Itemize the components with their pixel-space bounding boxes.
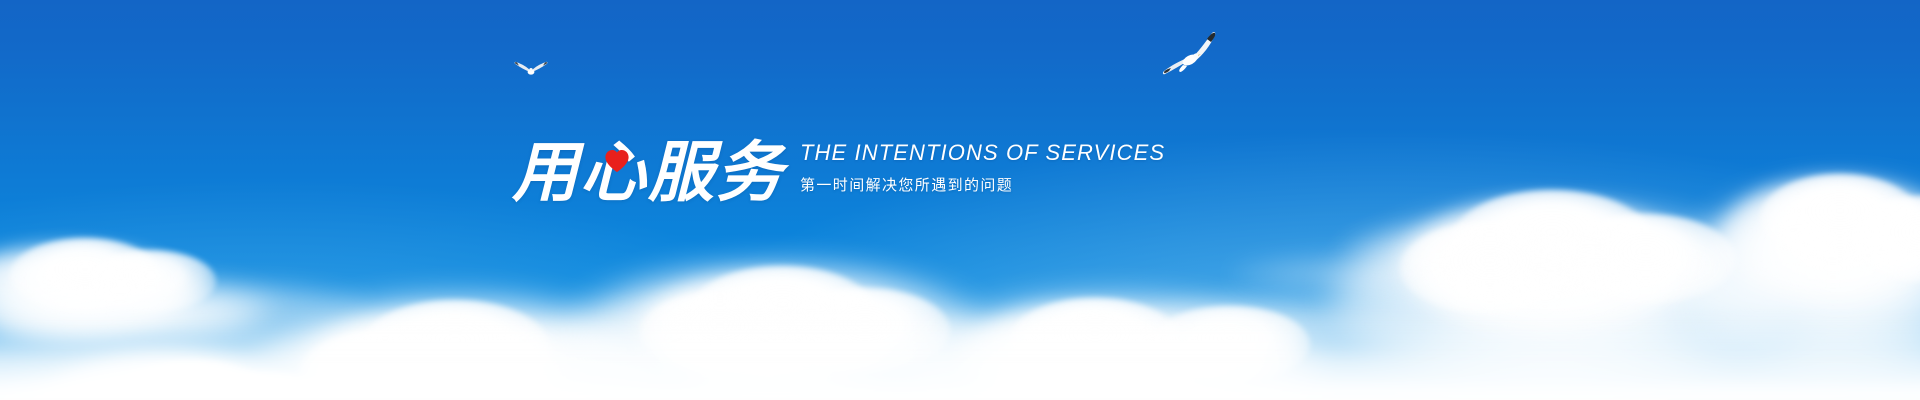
cloud-puff [636, 276, 886, 388]
cloud-base [0, 310, 1920, 400]
cloud-puff [1452, 190, 1652, 290]
headline-block: 用心服务 THE INTENTIONS OF SERVICES 第一时间解决您所… [512, 140, 1165, 207]
cloud-puff [40, 352, 300, 400]
cloud-puff [1556, 214, 1736, 304]
page-title: 用心服务 [512, 141, 784, 207]
seagull-icon [1160, 28, 1220, 78]
cloud-wisp [430, 330, 650, 368]
cloud-puff [690, 266, 875, 358]
cloud-puff [1400, 222, 1580, 314]
cloud-puff [0, 370, 280, 400]
cloud-puff [360, 300, 550, 396]
cloud-wisp [0, 286, 270, 346]
cloud-bank [1330, 212, 1790, 392]
service-banner: 用心服务 THE INTENTIONS OF SERVICES 第一时间解决您所… [0, 0, 1920, 400]
title-wrap: 用心服务 [512, 141, 784, 207]
cloud-wisp [1230, 254, 1460, 294]
cloud-puff [960, 306, 1200, 400]
cloud-puff [640, 292, 800, 372]
cloud-puff [1846, 196, 1920, 282]
cloud-puff [1010, 298, 1180, 382]
heart-icon [604, 149, 630, 173]
cloud-puff [86, 250, 216, 312]
seagull-icon [514, 60, 548, 80]
seagull-small-left [514, 60, 548, 80]
cloud-wisp [1130, 296, 1420, 346]
english-subtitle: THE INTENTIONS OF SERVICES [800, 140, 1165, 166]
cloud-puff [10, 238, 160, 312]
subtitle-column: THE INTENTIONS OF SERVICES 第一时间解决您所遇到的问题 [800, 140, 1165, 207]
cloud-puff [780, 288, 950, 372]
cloud-wisp [1340, 222, 1640, 276]
cloud-bank [900, 300, 1320, 400]
cloud-wisp [600, 296, 840, 342]
cloud-wisp [110, 282, 370, 334]
cloud-puff [300, 330, 470, 400]
cloud-puff [108, 360, 278, 400]
cloud-bank [1680, 188, 1920, 378]
cloud-puff [300, 312, 560, 400]
cloud-bank [560, 268, 990, 400]
cloud-puff [186, 372, 346, 400]
cloud-bank [250, 300, 670, 400]
cloud-puff [0, 246, 190, 338]
seagull-large-right [1160, 28, 1220, 78]
cloud-puff [1400, 200, 1690, 330]
cloud-puff [1150, 306, 1310, 382]
cloud-puff [1718, 180, 1920, 300]
cloud-puff [1760, 174, 1920, 262]
chinese-subtitle: 第一时间解决您所遇到的问题 [800, 174, 1165, 195]
cloud-wisp [1460, 246, 1720, 284]
